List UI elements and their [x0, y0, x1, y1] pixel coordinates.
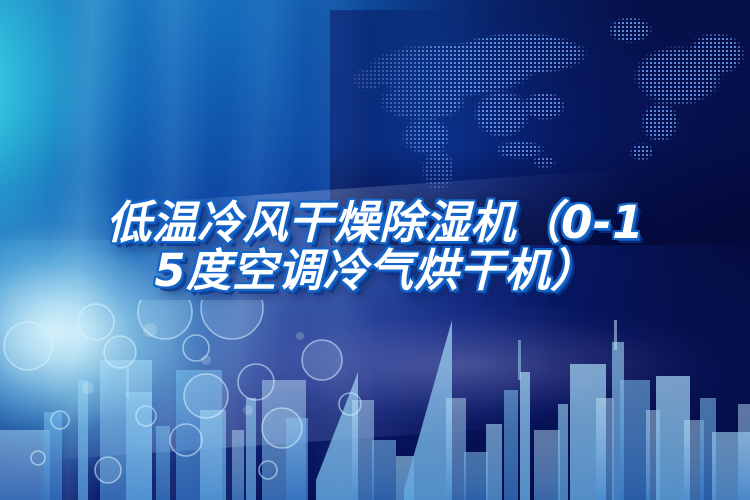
page-title: 低温冷风干燥除湿机（0-1 5度空调冷气烘干机）: [0, 200, 750, 294]
title-line-1: 低温冷风干燥除湿机（0-1: [0, 200, 750, 246]
title-line-2: 5度空调冷气烘干机）: [0, 248, 750, 294]
poster-banner: 低温冷风干燥除湿机（0-1 5度空调冷气烘干机）: [0, 0, 750, 500]
